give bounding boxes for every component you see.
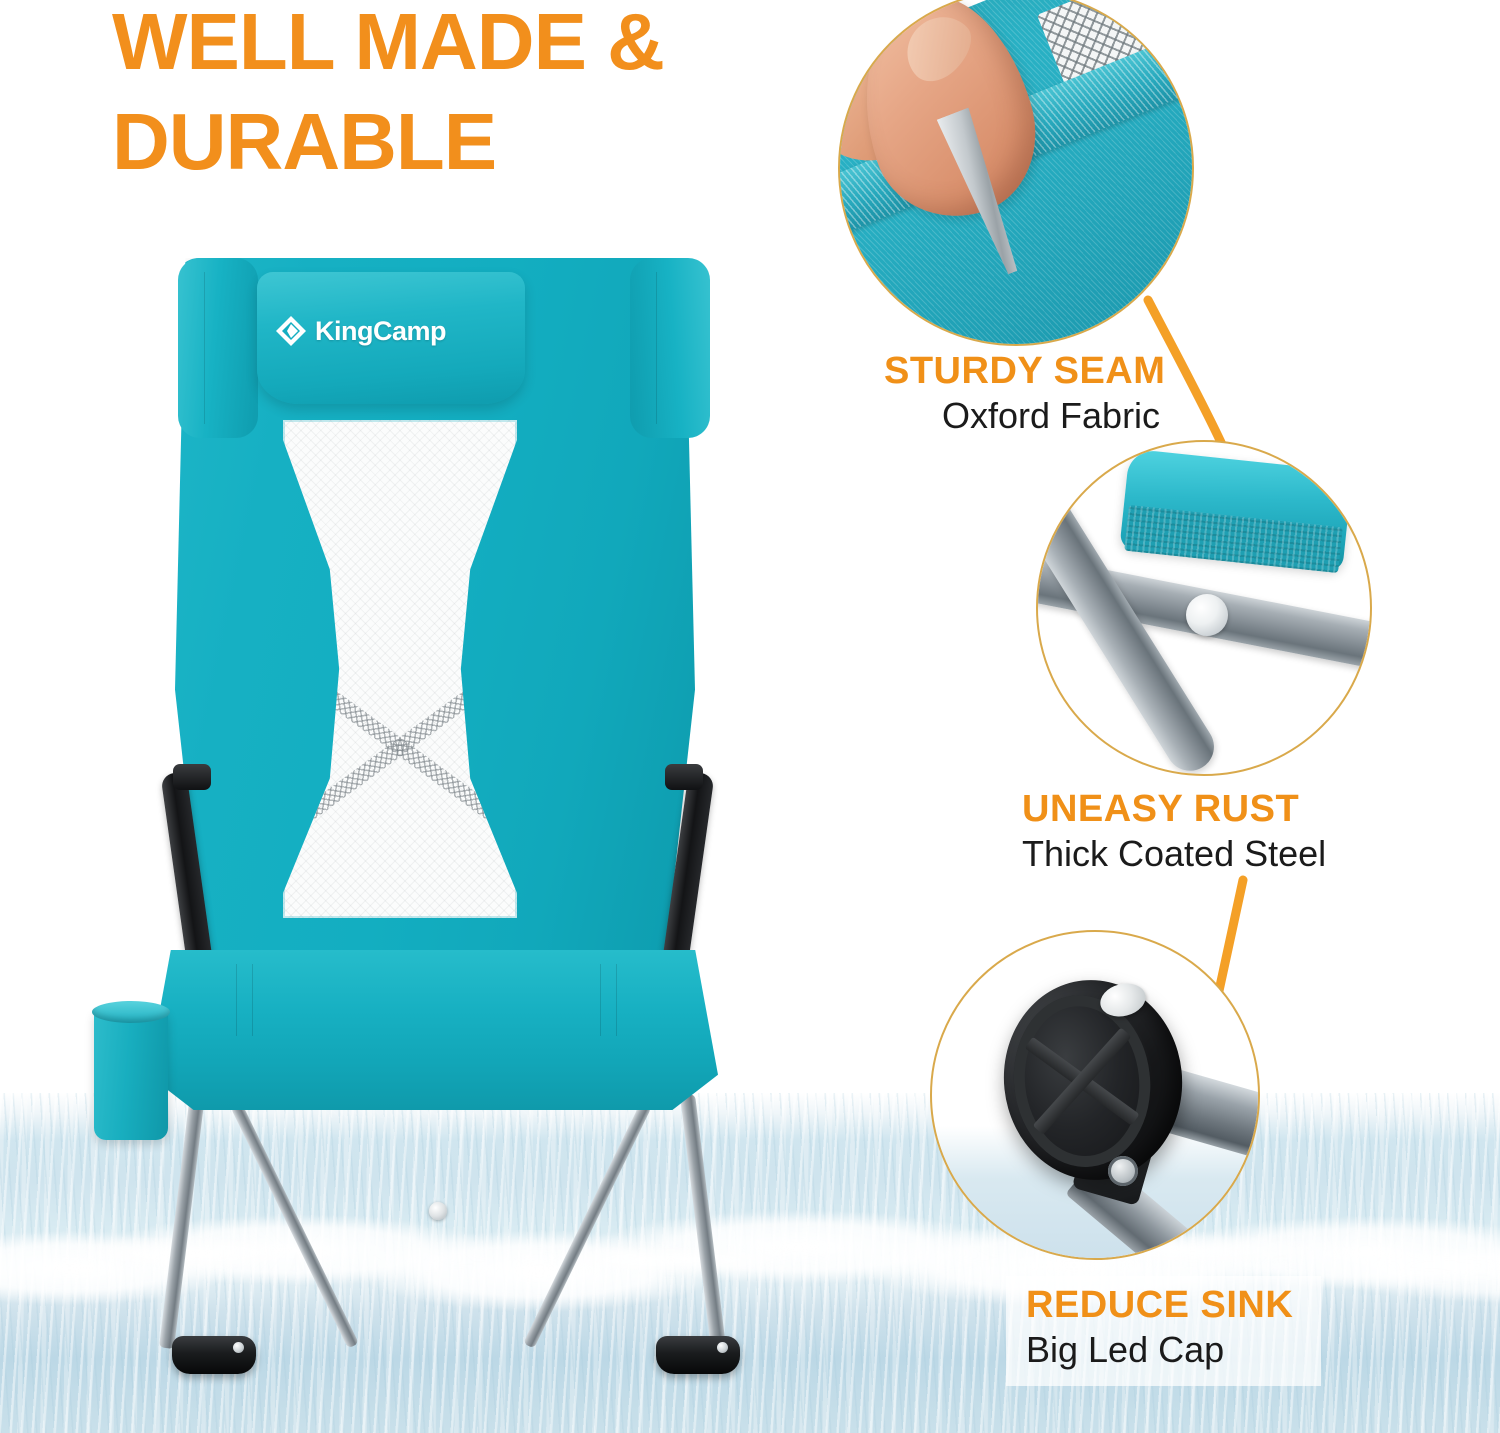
backrest-bolster-left	[178, 258, 258, 438]
callout-uneasy-rust: UNEASY RUST Thick Coated Steel	[1022, 790, 1326, 874]
tube-rivet	[1186, 594, 1228, 636]
armrest-cap-left	[173, 764, 211, 790]
brand-logo: KingCamp	[275, 314, 507, 348]
seat-stitch-4	[616, 964, 617, 1036]
cross-leg-rivet	[429, 1202, 447, 1220]
foot-cap-screw	[1108, 1156, 1138, 1186]
headrest-pillow: KingCamp	[257, 272, 525, 404]
brand-name: KingCamp	[315, 316, 446, 347]
kingcamp-diamond-icon	[275, 315, 307, 347]
callout-title-sturdy-seam: STURDY SEAM	[862, 352, 1165, 392]
detail-circle-steel-tubes	[1036, 440, 1372, 776]
armrest-cap-right	[665, 764, 703, 790]
callout-subtitle-reduce-sink: Big Led Cap	[1026, 1330, 1293, 1370]
chair-foot-right	[656, 1336, 740, 1374]
headline: WELL MADE & DURABLE	[112, 2, 832, 182]
foot-pin-right	[717, 1342, 728, 1353]
callout-sturdy-seam: STURDY SEAM Oxford Fabric	[862, 352, 1165, 436]
product-feature-graphic: WELL MADE & DURABLE STURDY SEAM Oxford F…	[0, 0, 1500, 1433]
headline-line-1: WELL MADE &	[112, 0, 664, 86]
callout-subtitle-uneasy-rust: Thick Coated Steel	[1022, 834, 1326, 874]
chair-foot-left	[172, 1336, 256, 1374]
thumbnail	[893, 3, 982, 92]
foot-pin-left	[233, 1342, 244, 1353]
chair-seat	[148, 950, 718, 1110]
seat-stitch-2	[252, 964, 253, 1036]
foot-cap-rib-2	[1033, 1027, 1132, 1134]
callout-subtitle-sturdy-seam: Oxford Fabric	[862, 396, 1165, 436]
cup-holder-rim	[92, 1001, 170, 1023]
headline-line-2: DURABLE	[112, 102, 832, 182]
foot-cap-face	[1005, 989, 1158, 1174]
callout-title-uneasy-rust: UNEASY RUST	[1022, 790, 1326, 830]
cup-holder	[94, 1010, 168, 1140]
detail-circle-foot-cap	[930, 930, 1260, 1260]
backrest-bolster-right	[630, 258, 710, 438]
beach-chair-product: KingCamp	[80, 250, 800, 1220]
detail-circle-fabric-blade	[838, 0, 1194, 346]
callout-title-reduce-sink: REDUCE SINK	[1026, 1286, 1293, 1326]
seat-stitch-3	[600, 964, 601, 1036]
seat-stitch-1	[236, 964, 237, 1036]
callout-reduce-sink: REDUCE SINK Big Led Cap	[1006, 1276, 1321, 1386]
